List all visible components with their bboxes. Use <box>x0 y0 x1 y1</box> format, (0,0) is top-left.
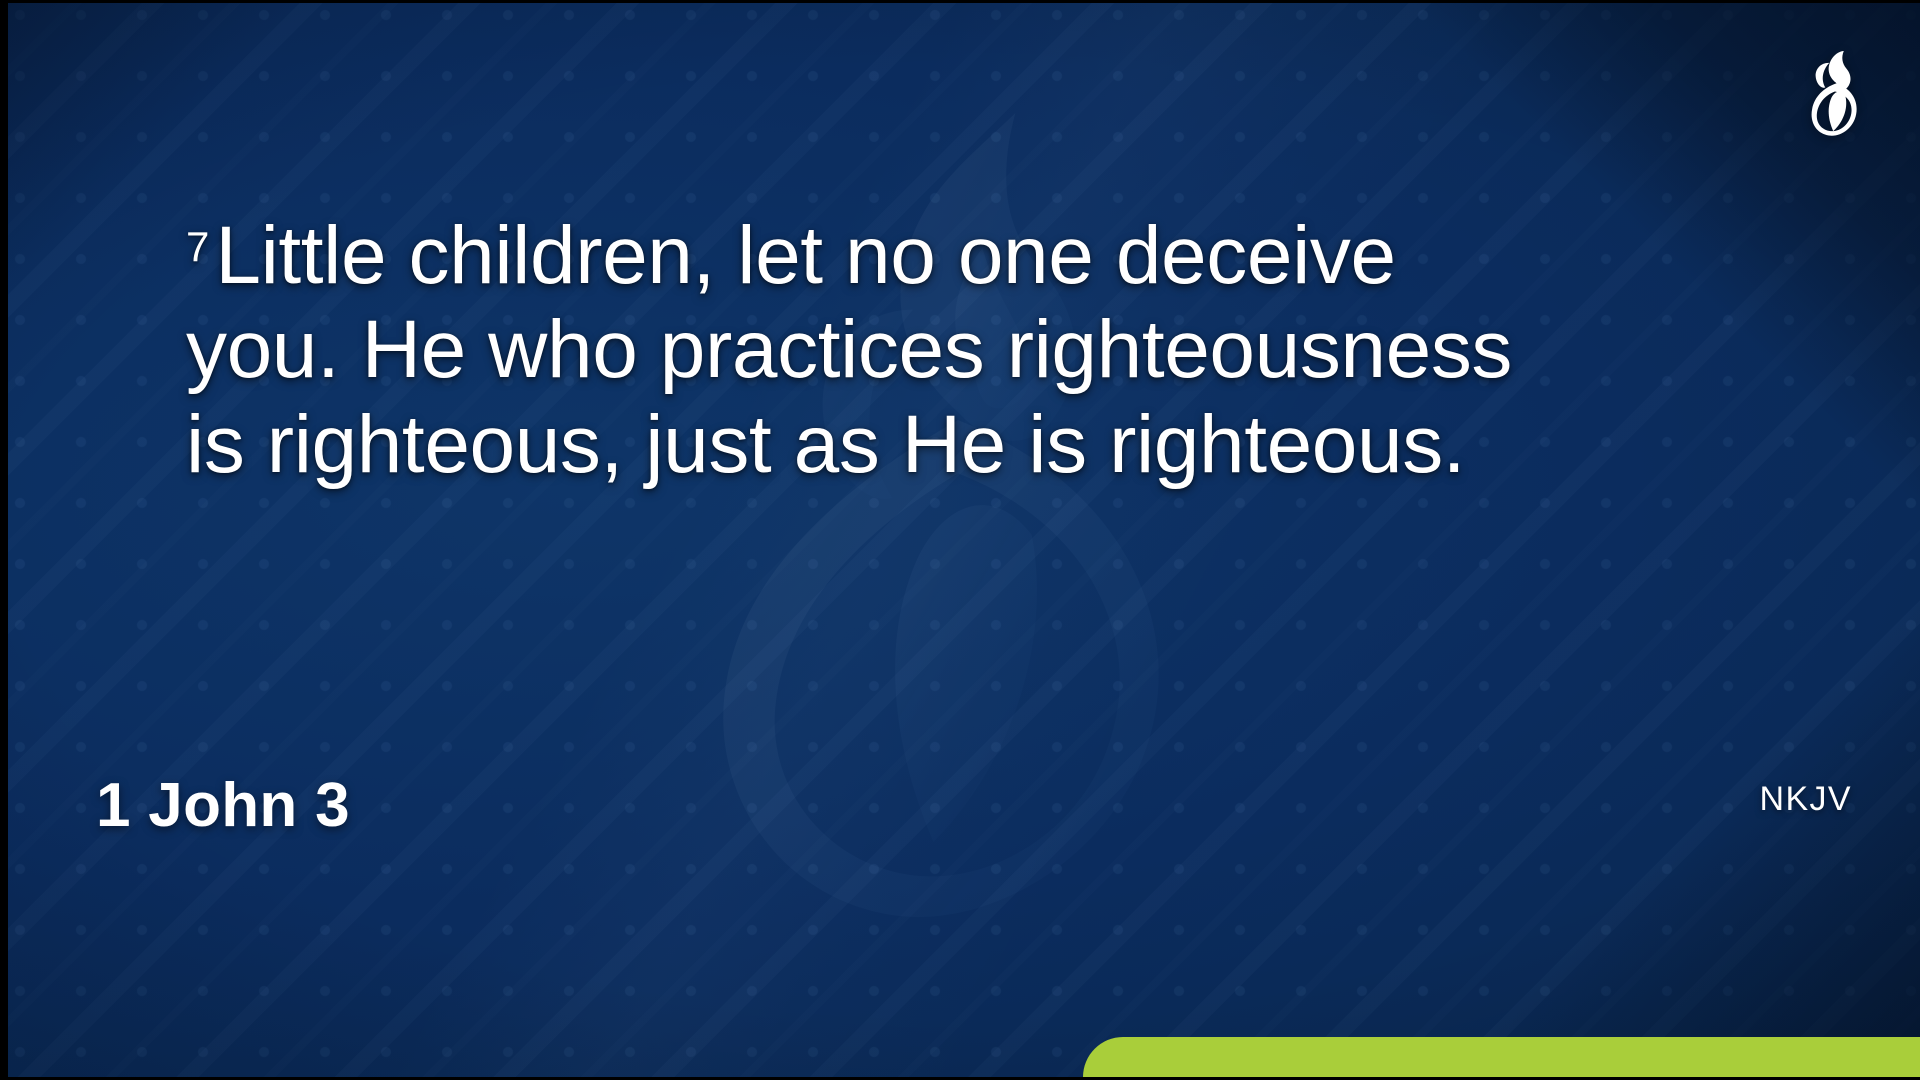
accent-bar <box>1083 1037 1920 1077</box>
flame-icon <box>1808 51 1862 139</box>
verse-line-2: you. He who practices righteousness <box>186 303 1766 397</box>
verse-line-3: is righteous, just as He is righteous. <box>186 398 1766 492</box>
scripture-slide: 7Little children, let no one deceive you… <box>0 0 1920 1080</box>
verse-number: 7 <box>186 223 215 270</box>
background-corner-shading <box>8 3 1920 1077</box>
verse-line-1-text: Little children, let no one deceive <box>215 210 1395 301</box>
scripture-reference: 1 John 3 <box>96 770 350 841</box>
translation-badge: NKJV <box>1759 780 1852 819</box>
verse-line-1: 7Little children, let no one deceive <box>186 209 1766 303</box>
verse-block: 7Little children, let no one deceive you… <box>186 209 1766 492</box>
